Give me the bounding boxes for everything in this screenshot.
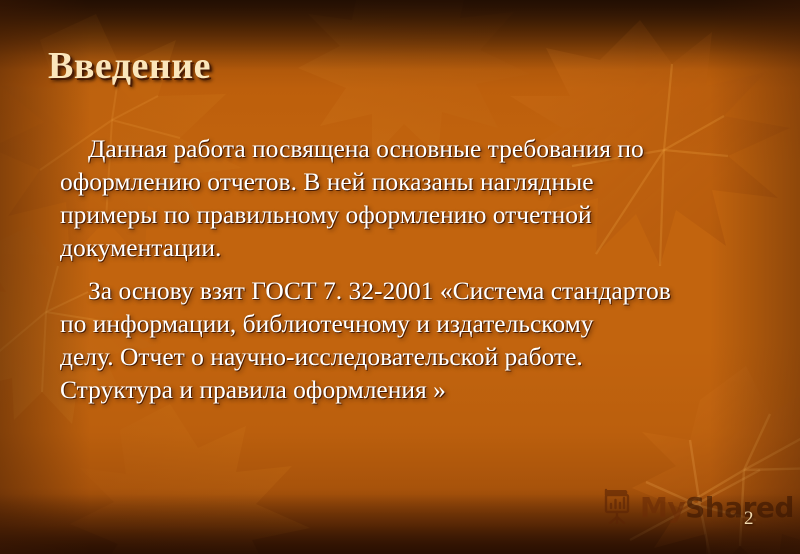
body-line: делу. Отчет о научно-исследовательской р… [60,340,750,373]
body-line: За основу взят ГОСТ 7. 32-2001 «Система … [60,274,750,307]
leaf-lower-left [70,404,310,554]
body-line: по информации, библиотечному и издательс… [60,307,750,340]
page-number: 2 [744,508,754,530]
body-line: Данная работа посвящена основные требова… [60,132,750,165]
body-line: Структура и правила оформления » [60,373,750,406]
presentation-slide: Введение Данная работа посвящена основны… [0,0,800,554]
watermark-text-my: My [640,491,685,524]
body-paragraph-2: За основу взят ГОСТ 7. 32-2001 «Система … [60,274,750,406]
myshared-watermark: MyShared [600,486,794,529]
slide-body: Данная работа посвящена основные требова… [60,132,750,406]
slide-title: Введение [48,44,211,88]
myshared-watermark-text: MyShared [640,494,794,522]
presentation-chart-icon [600,486,636,529]
body-line: примеры по правильному оформлению отчетн… [60,198,750,231]
body-line: документации. [60,231,750,264]
body-paragraph-1: Данная работа посвящена основные требова… [60,132,750,264]
body-line: оформлению отчетов. В ней показаны нагля… [60,165,750,198]
watermark-text-shared: Shared [685,491,794,524]
